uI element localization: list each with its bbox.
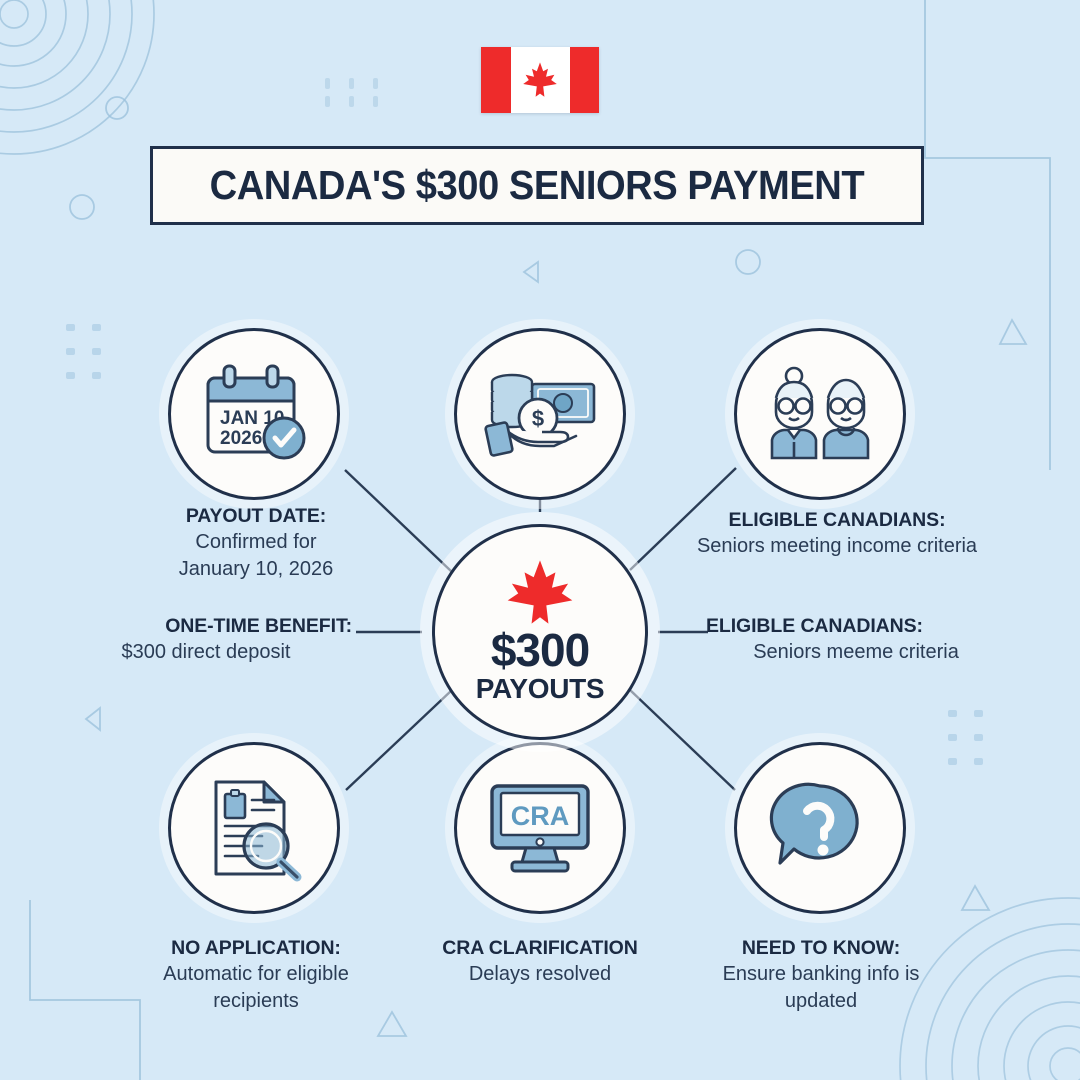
node-no-application[interactable] <box>168 742 340 914</box>
label-heading: PAYOUT DATE: <box>118 504 394 529</box>
canada-flag-icon <box>481 47 599 113</box>
label-payout-date: PAYOUT DATE: Confirmed for January 10, 2… <box>118 504 394 583</box>
infographic-canvas: CANADA'S $300 SENIORS PAYMENT JAN 10, 20… <box>0 0 1080 1080</box>
cra-monitor-icon: CRA <box>484 780 596 876</box>
hub-subtitle: PAYOUTS <box>476 673 605 705</box>
label-body-line2: recipients <box>120 988 392 1015</box>
flag-band-left <box>481 47 511 113</box>
label-body-line1: Seniors meeting income criteria <box>672 533 1002 560</box>
label-one-time-benefit: ONE-TIME BENEFIT: $300 direct deposit <box>60 614 352 666</box>
label-body-line2: updated <box>688 988 954 1015</box>
node-eligible-canadians[interactable] <box>734 328 906 500</box>
hub-payouts[interactable]: $300 PAYOUTS <box>432 524 648 740</box>
label-heading: ELIGIBLE CANADIANS: <box>706 614 1006 639</box>
document-magnifier-icon <box>200 774 308 882</box>
label-cra-clarification: CRA CLARIFICATION Delays resolved <box>406 936 674 988</box>
label-body-line2: January 10, 2026 <box>118 556 394 583</box>
label-heading: ONE-TIME BENEFIT: <box>60 614 352 639</box>
label-no-application: NO APPLICATION: Automatic for eligible r… <box>120 936 392 1015</box>
node-need-to-know[interactable] <box>734 742 906 914</box>
label-heading: CRA CLARIFICATION <box>406 936 674 961</box>
page-title: CANADA'S $300 SENIORS PAYMENT <box>210 162 865 209</box>
calendar-date-line2: 2026 <box>220 428 262 449</box>
label-heading: NEED TO KNOW: <box>688 936 954 961</box>
label-heading: NO APPLICATION: <box>120 936 392 961</box>
label-eligible-canadians-top: ELIGIBLE CANADIANS: Seniors meeting inco… <box>672 508 1002 560</box>
senior-couple-icon <box>762 364 878 464</box>
label-eligible-canadians-right: ELIGIBLE CANADIANS: Seniors meeme criter… <box>706 614 1006 666</box>
svg-text:$: $ <box>532 406 544 431</box>
label-body-line1: Automatic for eligible <box>120 961 392 988</box>
label-body-line1: Seniors meeme criteria <box>706 639 1006 666</box>
label-need-to-know: NEED TO KNOW: Ensure banking info is upd… <box>688 936 954 1015</box>
label-body-line1: $300 direct deposit <box>60 639 352 666</box>
page-title-box: CANADA'S $300 SENIORS PAYMENT <box>150 146 924 225</box>
label-body-line1: Delays resolved <box>406 961 674 988</box>
node-money[interactable]: $ <box>454 328 626 500</box>
label-heading: ELIGIBLE CANADIANS: <box>672 508 1002 533</box>
maple-leaf-icon <box>504 559 576 625</box>
hand-holding-money-icon: $ <box>480 362 600 466</box>
question-bubble-icon <box>770 778 870 878</box>
flag-band-right <box>570 47 600 113</box>
node-cra-clarification[interactable]: CRA <box>454 742 626 914</box>
calendar-check-icon: JAN 10, 2026 <box>198 362 310 466</box>
cra-screen-text: CRA <box>511 801 570 831</box>
maple-leaf-icon <box>520 60 560 100</box>
node-payout-date[interactable]: JAN 10, 2026 <box>168 328 340 500</box>
label-body-line1: Ensure banking info is <box>688 961 954 988</box>
label-body-line1: Confirmed for <box>118 529 394 556</box>
hub-amount: $300 <box>491 627 589 673</box>
